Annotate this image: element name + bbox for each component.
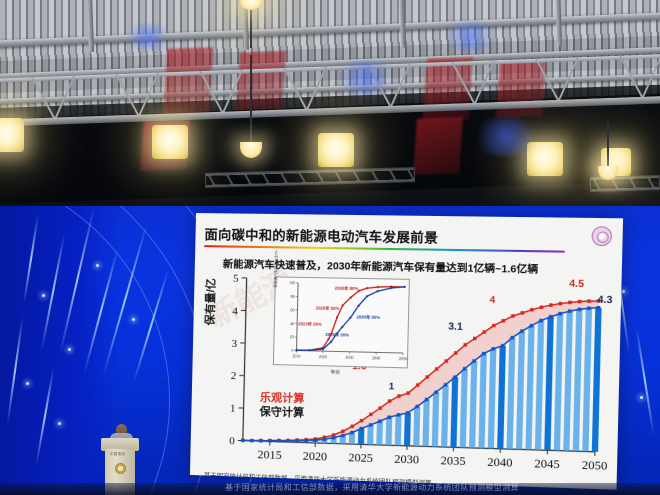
svg-text:2040: 2040: [487, 455, 513, 470]
ceiling-panel-light: [318, 133, 354, 167]
blue-accent-glow: [120, 24, 176, 50]
svg-text:2030: 2030: [345, 355, 353, 360]
svg-text:0: 0: [291, 348, 293, 353]
svg-text:0: 0: [229, 435, 235, 447]
pendant-rod: [607, 122, 609, 170]
blue-accent-glow: [468, 118, 544, 156]
data-label-4-3: 4.3: [597, 295, 612, 307]
light-streak: [635, 327, 654, 436]
data-label-4: 4: [489, 295, 495, 306]
blue-accent-glow: [438, 22, 502, 52]
data-label-3-1: 3.1: [448, 321, 463, 333]
svg-text:100: 100: [289, 280, 295, 285]
y-axis-title: 保有量/亿: [201, 278, 218, 325]
svg-text:5: 5: [233, 273, 239, 285]
svg-text:2035: 2035: [440, 453, 465, 468]
main-chart: 012345 20152020202520302035204020452050 …: [202, 271, 612, 481]
ceiling-panel-light: [0, 118, 24, 152]
inset-annotation-3: 2030年 50%: [356, 315, 380, 320]
inset-annotation-0: 2030年 80%: [335, 287, 359, 292]
led-dot: [58, 422, 61, 425]
inset-x-ticks: 20102020203020402050: [292, 350, 407, 361]
svg-text:2: 2: [231, 370, 237, 382]
inset-x-axis-title: 年份: [331, 370, 341, 376]
led-dot: [96, 264, 99, 267]
data-label-4-5: 4.5: [569, 279, 584, 291]
venue-ceiling: [0, 0, 660, 213]
legend-item-conservative: 保守计算: [259, 405, 304, 420]
pendant-rod: [250, 55, 252, 145]
led-dot: [26, 382, 29, 385]
svg-text:4: 4: [232, 305, 238, 317]
svg-text:2015: 2015: [257, 447, 282, 462]
stage-rigging-truss: [590, 175, 660, 192]
bottom-caption: 基于国家统计局和工信部数据，采用清华大学新能源动力系统团队预测模型测算: [225, 482, 519, 493]
svg-text:2020: 2020: [303, 449, 328, 464]
inset-series-lines: [295, 284, 405, 354]
svg-text:2025: 2025: [348, 450, 373, 465]
svg-text:80: 80: [291, 294, 295, 299]
podium-label: 中国电动: [110, 451, 125, 456]
led-dot: [622, 290, 625, 293]
svg-text:60: 60: [290, 307, 294, 312]
inset-annotation-4: 2025年 26%: [325, 333, 349, 338]
led-dot: [132, 318, 135, 321]
presentation-slide: 新能源 面向碳中和的新能源电动汽车发展前景 新能源汽车快速普及，2030年新能源…: [190, 213, 623, 490]
slide-title: 面向碳中和的新能源电动汽车发展前景: [204, 224, 438, 247]
chart-legend: 乐观计算 保守计算: [259, 391, 304, 421]
svg-text:2030: 2030: [394, 452, 419, 467]
svg-text:2020: 2020: [319, 354, 327, 359]
led-dot: [42, 294, 45, 297]
podium-emblem-icon: [115, 463, 126, 474]
blue-accent-glow: [330, 60, 400, 96]
inset-annotation-1: 2025年 50%: [316, 306, 340, 311]
led-dot: [640, 396, 643, 399]
photo-stage: 信日经济网 新能源 面向碳中和的新能源电动汽车发展前景 新能源汽车快速普及，20…: [0, 0, 660, 495]
svg-text:2045: 2045: [534, 456, 560, 471]
data-label-1: 1: [389, 381, 395, 392]
ceiling-panel-light: [152, 125, 188, 159]
svg-text:2050: 2050: [399, 356, 407, 361]
svg-text:1: 1: [230, 403, 236, 415]
legend-item-optimistic: 乐观计算: [260, 391, 305, 406]
svg-text:3: 3: [231, 338, 237, 350]
inset-y-axis-title: 新能源汽车销量占比/%: [274, 251, 280, 288]
svg-text:2050: 2050: [582, 458, 608, 473]
svg-text:40: 40: [290, 321, 294, 326]
inset-annotation-2: 2023年 26%: [298, 322, 322, 327]
led-dot: [68, 348, 71, 351]
svg-text:2010: 2010: [292, 353, 300, 358]
svg-text:2040: 2040: [372, 355, 380, 360]
svg-text:20: 20: [290, 334, 294, 339]
inset-chart: 020406080100 20102020203020402050 新能源汽车销…: [273, 276, 410, 368]
